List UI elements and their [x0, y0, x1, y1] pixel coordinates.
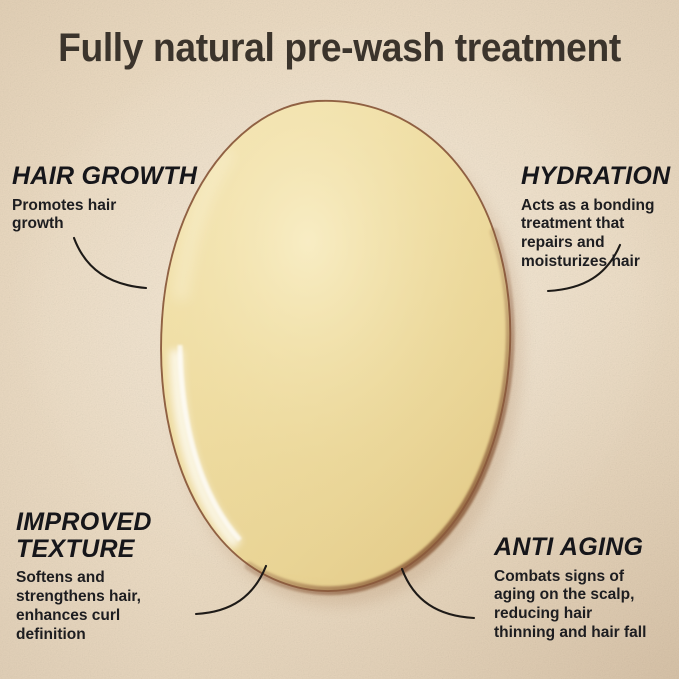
benefit-anti-aging: ANTI AGING Combats signs of aging on the… [494, 534, 646, 643]
benefit-hydration: HYDRATION Acts as a bonding treatment th… [521, 163, 670, 272]
blob-rim-shadow [249, 232, 510, 591]
blob-outline [161, 101, 510, 591]
benefit-heading-hair-growth: HAIR GROWTH [12, 163, 197, 190]
blob-drop-shadow [171, 117, 523, 606]
benefit-description-improved-texture: Softens and strengthens hair, enhances c… [16, 569, 152, 645]
arc-hair-growth [74, 238, 146, 288]
arc-anti-aging [402, 569, 474, 618]
benefit-description-anti-aging: Combats signs of aging on the scalp, red… [494, 568, 646, 644]
benefit-heading-improved-texture: IMPROVED TEXTURE [16, 509, 152, 562]
benefit-improved-texture: IMPROVED TEXTURE Softens and strengthens… [16, 509, 152, 645]
product-benefits-infographic: Fully natural pre-wash treatment HAIR GR… [0, 0, 679, 679]
benefit-hair-growth: HAIR GROWTH Promotes hair growth [12, 163, 197, 234]
benefit-heading-anti-aging: ANTI AGING [494, 534, 646, 561]
benefit-description-hair-growth: Promotes hair growth [12, 197, 197, 235]
arc-improved-texture [196, 566, 266, 614]
benefit-description-hydration: Acts as a bonding treatment that repairs… [521, 197, 670, 273]
benefit-heading-hydration: HYDRATION [521, 163, 670, 190]
page-title: Fully natural pre-wash treatment [24, 26, 655, 71]
